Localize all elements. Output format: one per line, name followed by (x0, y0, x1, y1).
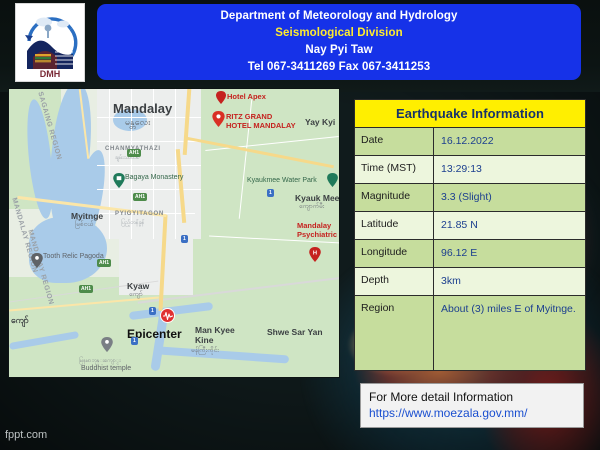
header-line-contact: Tel 067-3411269 Fax 067-3411253 (248, 59, 431, 76)
highway-shield-1-south2: 1 (131, 337, 138, 345)
earthquake-information-table: Earthquake Information Date 16.12.2022 T… (354, 99, 586, 371)
header-banner: Department of Meteorology and Hydrology … (97, 4, 581, 80)
seismograph-wave-icon (163, 311, 173, 321)
map-town-myitnge: Kyaw (127, 281, 149, 291)
highway-shield-1-mid: 1 (181, 235, 188, 243)
map-town-amarapura: Myitnge (71, 211, 103, 221)
map-town-amarapura-mm: မြစ်ငယ် (75, 221, 93, 230)
table-row: Latitude 21.85 N (355, 212, 585, 240)
map-poi-buddhist-temple-mm: မြနမာဘုန္းကျော္ငး (79, 357, 121, 365)
row-label-time: Time (MST) (355, 156, 434, 183)
map-town-yay-kyi: Yay Kyi (305, 117, 335, 127)
svg-text:H: H (313, 250, 317, 256)
table-row: Depth 3km (355, 268, 585, 296)
kyaukmee-water-park-pin-icon (327, 173, 338, 187)
map-town-shwe-sar-yan: Shwe Sar Yan (267, 327, 323, 337)
map-road-h4 (97, 189, 201, 190)
row-label-latitude: Latitude (355, 212, 434, 239)
highway-shield-ah1-north: AH1 (127, 149, 141, 157)
map-town-kyaw-name: ကျော် (11, 315, 29, 328)
row-label-depth: Depth (355, 268, 434, 295)
epicenter-marker-icon[interactable] (160, 308, 175, 323)
header-line-division: Seismological Division (275, 25, 402, 42)
watermark: fppt.com (5, 429, 47, 441)
row-value-time: 13:29:13 (434, 156, 585, 183)
row-label-date: Date (355, 128, 434, 155)
map-poi-ritz-grand: RITZ GRAND HOTEL MANDALAY (226, 112, 298, 130)
row-label-magnitude: Magnitude (355, 184, 434, 211)
table-title: Earthquake Information (355, 100, 585, 128)
map-poi-buddhist-temple: Buddhist temple (81, 365, 131, 372)
dmh-logo-icon: DMH (19, 7, 81, 79)
map-area-pyigyitagon: PYIGYITAGON (115, 211, 164, 217)
buddhist-temple-pin-icon (101, 337, 113, 352)
dmh-logo: DMH (15, 3, 85, 82)
row-label-region: Region (355, 296, 434, 370)
row-value-depth: 3km (434, 268, 585, 295)
header-line-city: Nay Pyi Taw (305, 42, 372, 59)
hotel-apex-pin-icon (216, 91, 226, 104)
more-information-box: For More detail Information https://www.… (360, 383, 584, 428)
map-town-kyauk-mee-mm: ကျောက်မီး (299, 203, 324, 212)
map-label-mandalay: Mandalay (113, 101, 172, 116)
map-town-kyauk-mee: Kyauk Mee (295, 193, 339, 203)
table-row: Date 16.12.2022 (355, 128, 585, 156)
map-poi-bagaya-monastery: Bagaya Monastery (125, 174, 183, 181)
map-area-pyigyitagon-mm: ပြည့်တန်ခွန် (121, 219, 145, 227)
map-road-h3 (97, 165, 201, 166)
map-poi-tooth-relic-pagoda: Tooth Relic Pagoda (43, 253, 104, 260)
map-town-man-kyee-kine: Man Kyee Kine (195, 325, 237, 345)
highway-shield-ah1-south: AH1 (97, 259, 111, 267)
highway-shield-ah1-sw: AH1 (79, 285, 93, 293)
epicenter-map[interactable]: SAGAING REGION MANDALAY REGION MANDALAY … (8, 88, 340, 378)
map-poi-kyaukmee-water-park: Kyaukmee Water Park (247, 177, 317, 184)
hospital-pin-icon: H (309, 247, 321, 262)
table-row: Longitude 96.12 E (355, 240, 585, 268)
highway-shield-1-east: 1 (267, 189, 274, 197)
row-value-region: About (3) miles E of Myitnge. (434, 296, 585, 370)
highway-shield-ah1-mid: AH1 (133, 193, 147, 201)
map-poi-hotel-apex: Hotel Apex (227, 92, 266, 101)
row-label-longitude: Longitude (355, 240, 434, 267)
map-town-myitnge-mm: ကျော် (129, 291, 143, 300)
map-canvas: SAGAING REGION MANDALAY REGION MANDALAY … (9, 89, 339, 377)
ritz-grand-pin-icon (212, 111, 225, 127)
map-poi-mandalay-psychiatric: Mandalay Psychiatric (297, 221, 340, 239)
more-info-url[interactable]: https://www.moezala.gov.mm/ (369, 405, 575, 421)
row-value-longitude: 96.12 E (434, 240, 585, 267)
table-row: Time (MST) 13:29:13 (355, 156, 585, 184)
map-town-man-kyee-kine-mm: မန်ကြီးကိုင်း (191, 347, 219, 356)
tooth-relic-pagoda-pin-icon (31, 253, 43, 268)
bagaya-monastery-pin-icon (113, 173, 125, 188)
map-road-v1 (109, 89, 110, 239)
header-line-department: Department of Meteorology and Hydrology (220, 8, 457, 25)
highway-shield-1-south: 1 (149, 307, 156, 315)
row-value-latitude: 21.85 N (434, 212, 585, 239)
svg-text:DMH: DMH (40, 69, 61, 79)
more-info-label: For More detail Information (369, 389, 575, 405)
row-value-date: 16.12.2022 (434, 128, 585, 155)
row-value-magnitude: 3.3 (Slight) (434, 184, 585, 211)
table-row: Region About (3) miles E of Myitnge. (355, 296, 585, 370)
table-row: Magnitude 3.3 (Slight) (355, 184, 585, 212)
slide-canvas: DMH Department of Meteorology and Hydrol… (0, 0, 600, 450)
map-label-mandalay-mm: မန္တလေး (125, 117, 150, 130)
